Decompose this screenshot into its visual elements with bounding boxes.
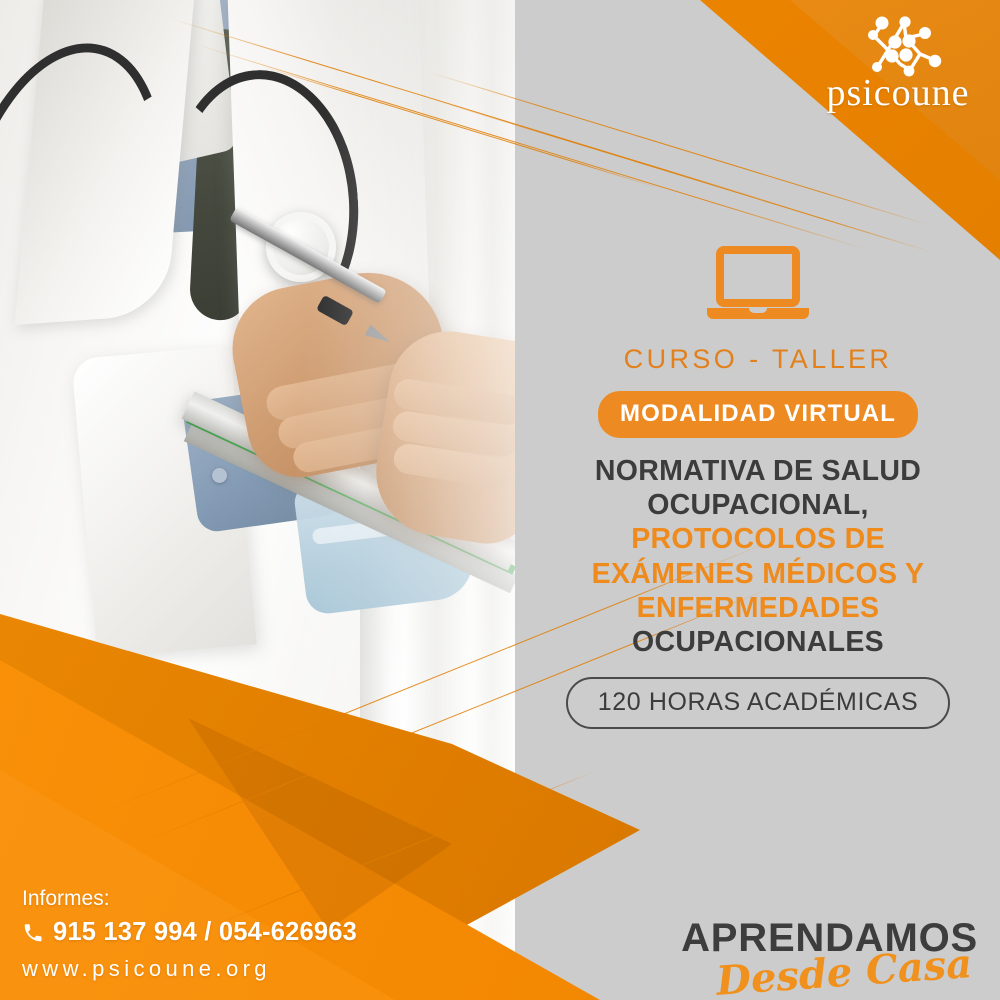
title-line: OCUPACIONALES	[546, 625, 970, 659]
molecule-network-icon	[848, 14, 948, 80]
course-title: NORMATIVA DE SALUD OCUPACIONAL, PROTOCOL…	[546, 454, 970, 659]
contact-phone[interactable]: 915 137 994 / 054-626963	[22, 918, 357, 947]
title-line: NORMATIVA DE SALUD	[546, 454, 970, 488]
phone-icon	[22, 922, 44, 944]
course-kicker: CURSO - TALLER	[546, 344, 970, 375]
contact-website[interactable]: www.psicoune.org	[22, 956, 357, 982]
modality-badge: MODALIDAD VIRTUAL	[598, 391, 918, 438]
title-line: PROTOCOLOS DE	[546, 522, 970, 556]
brand-logo[interactable]: psicoune	[820, 14, 976, 118]
title-line: OCUPACIONAL,	[546, 488, 970, 522]
academic-hours-badge: 120 HORAS ACADÉMICAS	[566, 677, 950, 729]
title-line: ENFERMEDADES	[546, 591, 970, 625]
flyer-canvas: psicoune CURSO - TALLER MODALIDAD VIRTUA…	[0, 0, 1000, 1000]
course-content: CURSO - TALLER MODALIDAD VIRTUAL NORMATI…	[546, 246, 970, 729]
laptop-icon	[701, 246, 815, 322]
contact-block: Informes: 915 137 994 / 054-626963 www.p…	[22, 887, 357, 982]
contact-label: Informes:	[22, 887, 357, 911]
tagline-block: APRENDAMOS Desde Casa	[681, 918, 978, 984]
logo-wordmark: psicoune	[820, 74, 976, 112]
title-line: EXÁMENES MÉDICOS Y	[546, 557, 970, 591]
contact-phone-text: 915 137 994 / 054-626963	[53, 918, 357, 947]
